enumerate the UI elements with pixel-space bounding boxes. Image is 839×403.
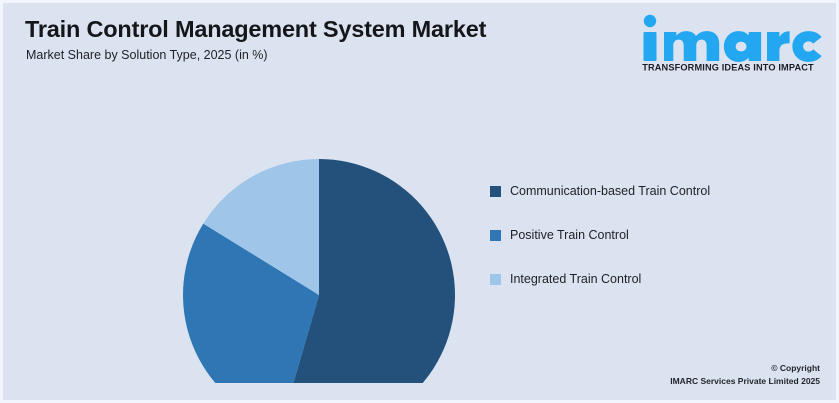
legend-item-communication-based-train-control: Communication-based Train Control	[490, 169, 820, 213]
legend-item-positive-train-control: Positive Train Control	[490, 213, 820, 257]
pie-chart	[3, 73, 473, 383]
legend-item-label: Positive Train Control	[510, 229, 629, 242]
copyright-line-2: IMARC Services Private Limited 2025	[670, 375, 820, 388]
legend-swatch-icon	[490, 186, 501, 197]
infographic-card: Train Control Management System Market M…	[0, 0, 839, 403]
imarc-tagline: TRANSFORMING IDEAS INTO IMPACT	[642, 63, 814, 73]
imarc-logo: TRANSFORMING IDEAS INTO IMPACT	[628, 12, 824, 74]
legend-item-label: Communication-based Train Control	[510, 185, 710, 198]
legend-swatch-icon	[490, 274, 501, 285]
page-title: Train Control Management System Market	[25, 16, 486, 43]
page-subtitle: Market Share by Solution Type, 2025 (in …	[26, 48, 268, 62]
copyright-notice: © Copyright IMARC Services Private Limit…	[670, 362, 820, 388]
legend-item-label: Integrated Train Control	[510, 273, 641, 286]
imarc-wordmark-icon	[644, 15, 822, 62]
copyright-line-1: © Copyright	[670, 362, 820, 375]
legend-swatch-icon	[490, 230, 501, 241]
legend-item-integrated-train-control: Integrated Train Control	[490, 257, 820, 301]
chart-legend: Communication-based Train Control Positi…	[490, 169, 820, 301]
